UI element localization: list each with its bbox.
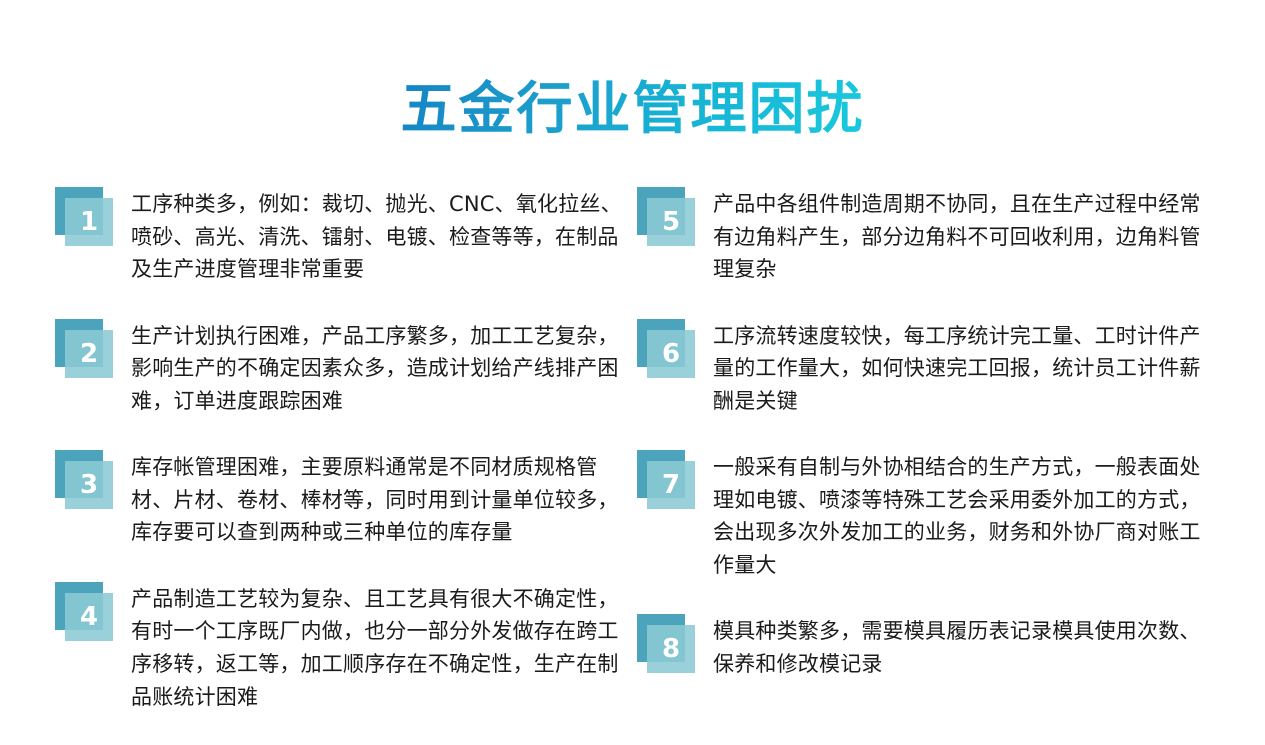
list-item-text: 工序流转速度较快，每工序统计完工量、工时计件产量的工作量大，如何快速完工回报，统… bbox=[713, 318, 1203, 418]
badge-front-square: 1 bbox=[65, 198, 113, 246]
badge-front-square: 4 bbox=[65, 593, 113, 641]
number-badge: 1 bbox=[55, 187, 119, 251]
badge-number: 6 bbox=[662, 341, 680, 367]
list-item-text: 生产计划执行困难，产品工序繁多，加工工艺复杂，影响生产的不确定因素众多，造成计划… bbox=[131, 318, 632, 418]
list-item-text: 产品中各组件制造周期不协同，且在生产过程中经常有边角料产生，部分边角料不可回收利… bbox=[713, 186, 1203, 286]
list-item-text: 一般采有自制与外协相结合的生产方式，一般表面处理如电镀、喷漆等特殊工艺会采用委外… bbox=[713, 449, 1203, 581]
badge-front-square: 5 bbox=[647, 198, 695, 246]
page-title: 五金行业管理困扰 bbox=[401, 78, 865, 142]
list-item: 7 一般采有自制与外协相结合的生产方式，一般表面处理如电镀、喷漆等特殊工艺会采用… bbox=[637, 449, 1265, 581]
number-badge: 6 bbox=[637, 319, 701, 383]
list-item-text: 产品制造工艺较为复杂、且工艺具有很大不确定性，有时一个工序既厂内做，也分一部分外… bbox=[131, 581, 632, 713]
list-item: 5 产品中各组件制造周期不协同，且在生产过程中经常有边角料产生，部分边角料不可回… bbox=[637, 186, 1265, 286]
number-badge: 7 bbox=[637, 450, 701, 514]
list-item: 8 模具种类繁多，需要模具履历表记录模具使用次数、保养和修改模记录 bbox=[637, 613, 1265, 680]
number-badge: 4 bbox=[55, 582, 119, 646]
list-item: 1 工序种类多，例如：裁切、抛光、CNC、氧化拉丝、喷砂、高光、清洗、镭射、电镀… bbox=[55, 186, 632, 286]
list-item-text: 工序种类多，例如：裁切、抛光、CNC、氧化拉丝、喷砂、高光、清洗、镭射、电镀、检… bbox=[131, 186, 632, 286]
badge-number: 8 bbox=[662, 636, 680, 662]
list-item: 3 库存帐管理困难，主要原料通常是不同材质规格管材、片材、卷材、棒材等，同时用到… bbox=[55, 449, 632, 549]
list-item: 6 工序流转速度较快，每工序统计完工量、工时计件产量的工作量大，如何快速完工回报… bbox=[637, 318, 1265, 418]
list-item: 2 生产计划执行困难，产品工序繁多，加工工艺复杂，影响生产的不确定因素众多，造成… bbox=[55, 318, 632, 418]
content-columns: 1 工序种类多，例如：裁切、抛光、CNC、氧化拉丝、喷砂、高光、清洗、镭射、电镀… bbox=[0, 186, 1265, 745]
list-item-text: 库存帐管理困难，主要原料通常是不同材质规格管材、片材、卷材、棒材等，同时用到计量… bbox=[131, 449, 632, 549]
column-left: 1 工序种类多，例如：裁切、抛光、CNC、氧化拉丝、喷砂、高光、清洗、镭射、电镀… bbox=[0, 186, 632, 745]
title-container: 五金行业管理困扰 bbox=[0, 40, 1265, 179]
badge-number: 2 bbox=[80, 341, 98, 367]
badge-front-square: 3 bbox=[65, 461, 113, 509]
badge-front-square: 8 bbox=[647, 625, 695, 673]
badge-number: 7 bbox=[662, 472, 680, 498]
number-badge: 5 bbox=[637, 187, 701, 251]
list-item-text: 模具种类繁多，需要模具履历表记录模具使用次数、保养和修改模记录 bbox=[713, 613, 1203, 680]
slide-root: 五金行业管理困扰 1 工序种类多，例如：裁切、抛光、CNC、氧化拉丝、喷砂、高光… bbox=[0, 0, 1265, 689]
badge-number: 5 bbox=[662, 209, 680, 235]
badge-number: 4 bbox=[80, 604, 98, 630]
number-badge: 3 bbox=[55, 450, 119, 514]
list-item: 4 产品制造工艺较为复杂、且工艺具有很大不确定性，有时一个工序既厂内做，也分一部… bbox=[55, 581, 632, 713]
column-right: 5 产品中各组件制造周期不协同，且在生产过程中经常有边角料产生，部分边角料不可回… bbox=[632, 186, 1265, 745]
badge-number: 3 bbox=[80, 472, 98, 498]
badge-front-square: 2 bbox=[65, 330, 113, 378]
number-badge: 8 bbox=[637, 614, 701, 678]
badge-front-square: 6 bbox=[647, 330, 695, 378]
badge-front-square: 7 bbox=[647, 461, 695, 509]
badge-number: 1 bbox=[80, 209, 98, 235]
number-badge: 2 bbox=[55, 319, 119, 383]
